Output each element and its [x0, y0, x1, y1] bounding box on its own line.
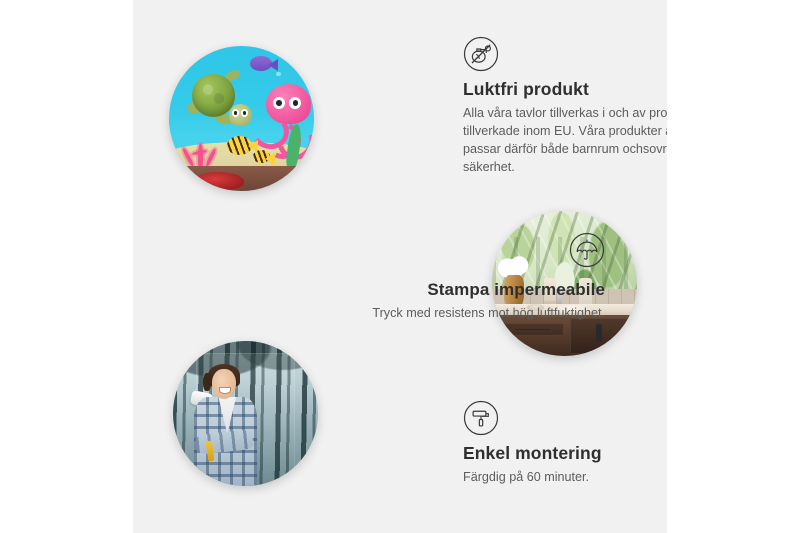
feature-heading: Enkel montering	[463, 443, 667, 464]
octopus-head	[266, 84, 311, 124]
no-fragrance-spray-icon	[463, 36, 667, 72]
fish-illustration	[253, 150, 270, 163]
turtle-head	[229, 104, 252, 126]
coral-branch	[181, 147, 194, 166]
feature-description: Alla våra tavlor tillverkas i och av pro…	[463, 105, 667, 177]
face	[212, 369, 236, 399]
feature-heading: Stampa impermeabile	[355, 280, 605, 300]
octopus-eye	[273, 97, 285, 109]
turtle-illustration	[189, 71, 253, 129]
feature-block-odourless: Luktfri produkt Alla våra tavlor tillver…	[463, 36, 667, 177]
feature-description: Färgdig på 60 minuter.	[463, 469, 667, 487]
thumbnail-artwork	[173, 341, 318, 486]
infographic-panel: Luktfri produkt Alla våra tavlor tillver…	[133, 0, 667, 533]
feature-description: Tryck med resistens mot hög luftfuktighe…	[355, 305, 605, 323]
feature-block-assembly: Enkel montering Färgdig på 60 minuter.	[463, 400, 667, 487]
door-handle	[596, 324, 602, 342]
fish-illustration	[250, 56, 272, 71]
fish-illustration	[227, 136, 252, 155]
turtle-eye	[232, 109, 239, 116]
underwater-cartoon-mural-thumbnail	[169, 46, 314, 191]
foreground-furniture-strip	[169, 166, 314, 191]
feature-block-waterproof: Stampa impermeabile Tryck med resistens …	[355, 232, 605, 323]
coral-branch	[205, 148, 217, 167]
turtle-eye	[241, 109, 248, 116]
paint-roller-icon	[463, 400, 667, 436]
smile	[220, 388, 230, 393]
woman-with-paint-roller-thumbnail	[173, 341, 318, 486]
coral-illustration	[181, 133, 225, 171]
thumbnail-artwork	[169, 46, 314, 191]
octopus-eye	[289, 97, 301, 109]
product-feature-infographic: Luktfri produkt Alla våra tavlor tillver…	[0, 0, 800, 533]
woman-illustration	[188, 364, 269, 486]
octopus-illustration	[250, 84, 311, 151]
umbrella-icon	[569, 232, 605, 268]
feature-heading: Luktfri produkt	[463, 79, 667, 100]
